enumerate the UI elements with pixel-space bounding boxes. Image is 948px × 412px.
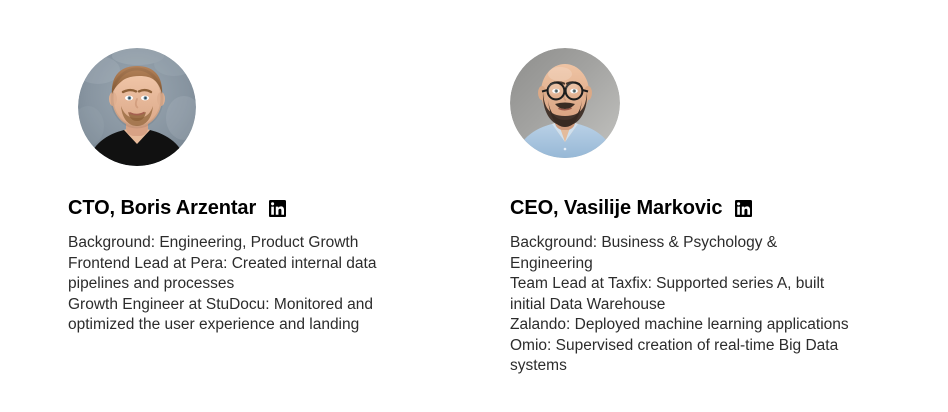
person-name: CTO, Boris Arzentar — [68, 197, 256, 219]
team-profiles-section: CTO, Boris Arzentar Background: Engineer… — [0, 0, 948, 412]
linkedin-icon[interactable] — [269, 200, 286, 217]
person-bio: Background: Business & Psychology & Engi… — [510, 233, 860, 377]
person-bio: Background: Engineering, Product Growth … — [68, 233, 413, 336]
profile-card-cto: CTO, Boris Arzentar Background: Engineer… — [68, 0, 468, 336]
linkedin-icon[interactable] — [735, 200, 752, 217]
person-heading: CEO, Vasilije Markovic — [510, 197, 910, 219]
profile-card-ceo: CEO, Vasilije Markovic Background: Busin… — [510, 0, 910, 377]
person-name: CEO, Vasilije Markovic — [510, 197, 722, 219]
avatar — [510, 48, 620, 158]
person-heading: CTO, Boris Arzentar — [68, 197, 468, 219]
avatar — [78, 48, 196, 166]
